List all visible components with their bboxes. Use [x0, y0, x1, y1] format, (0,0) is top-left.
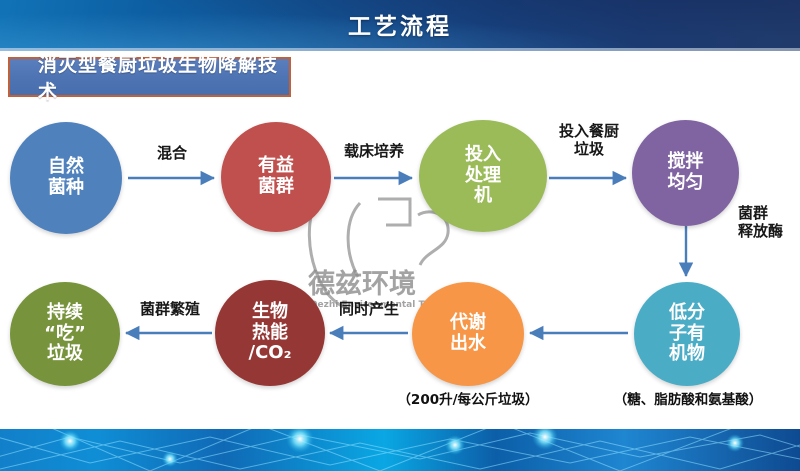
- caption-water-yield: （200升/每公斤垃圾）: [388, 388, 548, 408]
- node-label: 搅拌均匀: [668, 152, 704, 193]
- node-label: 有益菌群: [258, 156, 294, 197]
- edge-label-flora-release-enzyme: 菌群释放酶: [738, 204, 800, 240]
- footer-decoration: [0, 429, 800, 471]
- edge-label-flora-multiply: 菌群繁殖: [124, 300, 216, 318]
- page-title: 工艺流程: [0, 0, 800, 48]
- node-feed-processor: 投入处理机: [419, 120, 547, 232]
- node-label: 投入处理机: [465, 145, 501, 207]
- node-low-molecular: 低分子有机物: [634, 282, 740, 386]
- caption-organic-kinds: （糖、脂肪酸和氨基酸）: [600, 388, 776, 408]
- node-label: 自然菌种: [48, 157, 84, 198]
- node-beneficial-flora: 有益菌群: [221, 122, 331, 232]
- edge-label-feed-kitchen-waste: 投入餐厨垃圾: [546, 122, 632, 158]
- node-natural-strain: 自然菌种: [10, 122, 122, 234]
- node-bio-heat-co2: 生物热能/CO₂: [215, 280, 325, 386]
- edge-label-bed-culture: 载床培养: [328, 142, 420, 160]
- node-label: 持续“吃”垃圾: [44, 303, 86, 365]
- edge-label-simultaneous-produce: 同时产生: [324, 300, 414, 318]
- node-continuous-eating: 持续“吃”垃圾: [10, 282, 120, 386]
- process-flow-diagram: 自然菌种 有益菌群 投入处理机 搅拌均匀 低分子有机物 代谢出水 生物热能/CO…: [0, 100, 800, 430]
- node-metabolic-water: 代谢出水: [412, 282, 524, 386]
- node-label: 代谢出水: [450, 313, 486, 354]
- subtitle-bar: 消灭型餐厨垃圾生物降解技术: [8, 57, 291, 97]
- header-banner: 工艺流程: [0, 0, 800, 48]
- edge-label-mix: 混合: [134, 144, 210, 162]
- node-label: 生物热能/CO₂: [249, 302, 292, 364]
- footer-network-graphic: [0, 429, 800, 471]
- node-stir-evenly: 搅拌均匀: [632, 120, 739, 226]
- slide-root: 工艺流程 消灭型餐厨垃圾生物降解技术 德兹环境 Dezhi Environmen…: [0, 0, 800, 471]
- subtitle-label: 消灭型餐厨垃圾生物降解技术: [10, 50, 289, 104]
- node-label: 低分子有机物: [669, 303, 705, 365]
